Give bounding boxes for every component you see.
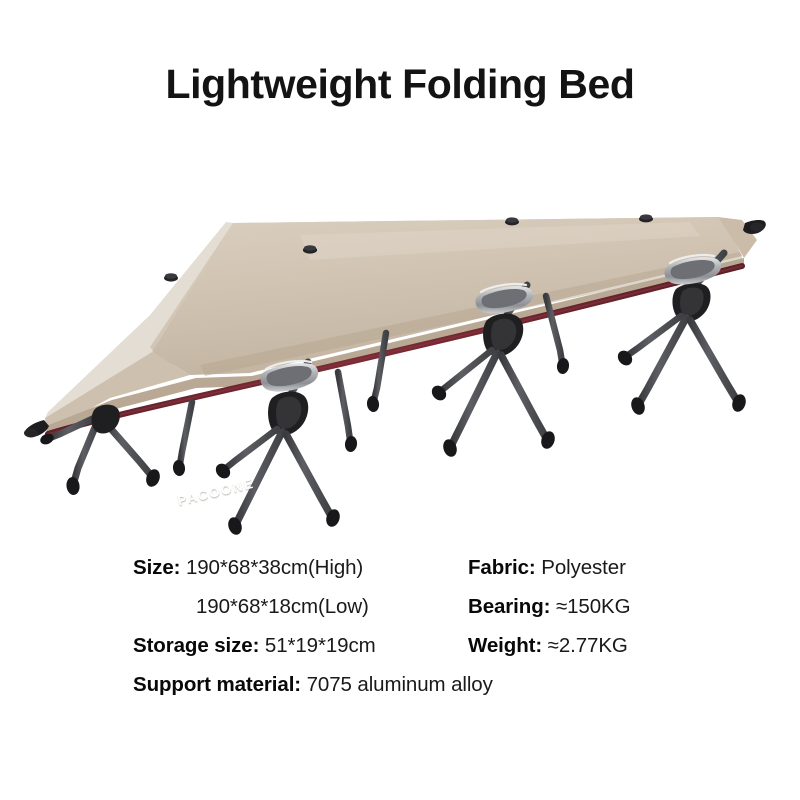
spec-value: 7075 aluminum alloy [307,673,493,696]
spec-weight: Weight: ≈2.77KG [468,626,628,665]
spec-row: 190*68*18cm(Low) Bearing: ≈150KG [0,587,800,626]
spec-row: Storage size: 51*19*19cm Weight: ≈2.77KG [0,626,800,665]
spec-fabric: Fabric: Polyester [468,548,626,587]
specification-list: Size: 190*68*38cm(High) Fabric: Polyeste… [0,548,800,708]
folding-bed-illustration [0,150,800,540]
spec-row: Support material: 7075 aluminum alloy [0,665,800,704]
page-title: Lightweight Folding Bed [0,62,800,107]
spec-label: Weight: [468,634,548,657]
spec-value: 190*68*38cm(High) [186,556,363,579]
spec-value: Polyester [541,556,626,579]
spec-value: ≈2.77KG [548,634,628,657]
spec-label: Size: [133,556,186,579]
spec-value: 190*68*18cm(Low) [196,595,369,618]
product-image: PACOONE [0,150,800,540]
spec-row: Size: 190*68*38cm(High) Fabric: Polyeste… [0,548,800,587]
spec-label: Support material: [133,673,307,696]
spec-bearing: Bearing: ≈150KG [468,587,630,626]
spec-storage-size: Storage size: 51*19*19cm [133,626,376,665]
spec-label: Storage size: [133,634,265,657]
spec-label: Bearing: [468,595,556,618]
spec-size: Size: 190*68*38cm(High) [133,548,363,587]
spec-support-material: Support material: 7075 aluminum alloy [133,665,493,704]
spec-size-low: 190*68*18cm(Low) [196,587,369,626]
spec-value: ≈150KG [556,595,630,618]
product-detail-page: Lightweight Folding Bed [0,0,800,800]
spec-value: 51*19*19cm [265,634,376,657]
bed-fabric [45,217,757,435]
spec-label: Fabric: [468,556,541,579]
